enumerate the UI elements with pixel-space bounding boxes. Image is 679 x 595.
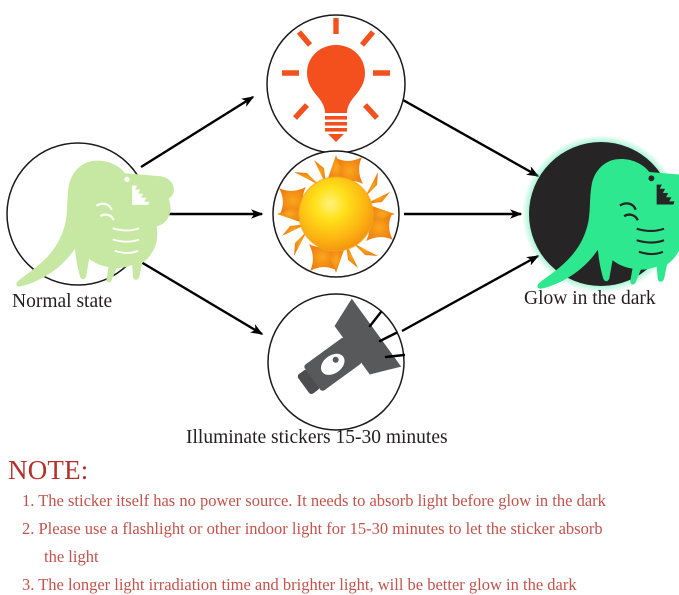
label-glow-in-the-dark: Glow in the dark	[524, 288, 656, 310]
arrow-normal-to-bulb	[141, 97, 253, 167]
arrow-normal-to-flashlight	[141, 262, 262, 334]
node-sun	[273, 151, 399, 277]
notes-title: NOTE:	[8, 455, 88, 486]
process-flow-diagram	[0, 0, 679, 460]
note-item: 3. The longer light irradiation time and…	[22, 575, 577, 595]
note-item: 2. Please use a flashlight or other indo…	[22, 519, 603, 539]
note-item-continuation: the light	[44, 547, 99, 567]
infographic-root: Normal state Glow in the dark Illuminate…	[0, 0, 679, 593]
arrow-bulb-to-glow	[403, 100, 538, 176]
arrow-flashlight-to-glow	[402, 256, 538, 331]
node-flashlight	[268, 294, 404, 430]
node-light-bulb	[267, 15, 405, 153]
node-normal-state	[7, 143, 174, 287]
label-normal-state: Normal state	[12, 291, 112, 313]
node-glow-in-the-dark	[522, 135, 679, 293]
note-item: 1. The sticker itself has no power sourc…	[22, 491, 606, 511]
label-illuminate-stickers: Illuminate stickers 15-30 minutes	[186, 427, 448, 449]
